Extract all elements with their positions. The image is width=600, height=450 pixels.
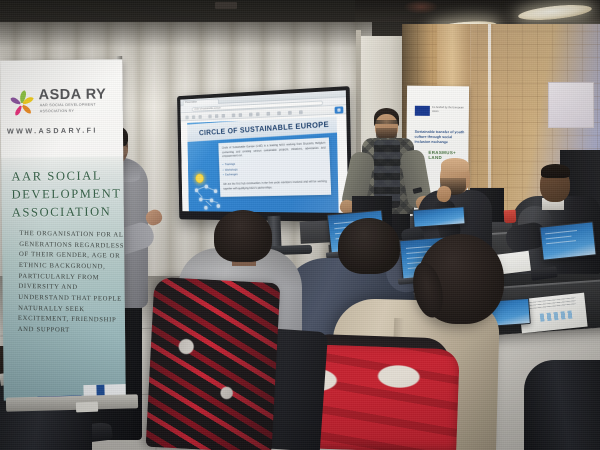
- slide-bullet-list: Trainings Workshops Exchanges: [222, 158, 326, 179]
- toolbar-icon[interactable]: [192, 115, 195, 119]
- banner-body-text: THE ORGANISATION FOR ALL GENERATIONS REG…: [18, 229, 126, 338]
- toolbar-icon[interactable]: [185, 115, 188, 119]
- slide-paragraph: Circle of Sustainable Europe (CSE) is a …: [222, 141, 326, 159]
- jacket-shading: [146, 277, 281, 450]
- participant-hair: [541, 164, 570, 178]
- sun-icon: [195, 174, 203, 183]
- wall-mounted-monitor[interactable]: Presentation circle-of-sustainable-europ…: [177, 86, 352, 222]
- banner-right-eu-note: Co-funded by the European Union: [432, 106, 466, 114]
- toolbar-icon[interactable]: [266, 111, 270, 115]
- laptop-screen: [414, 208, 464, 227]
- toolbar-icon[interactable]: [288, 110, 292, 114]
- toolbar-icon[interactable]: [277, 111, 281, 115]
- banner-website-url: WWW.ASDARY.FI: [7, 125, 123, 135]
- foreground-person-right: [524, 360, 600, 450]
- sun-network-graphic: [193, 172, 224, 213]
- laptop-right[interactable]: [539, 221, 596, 260]
- slide-paragraph-2: We are the first hub communities in the …: [223, 179, 327, 191]
- laptop-screen: [541, 223, 595, 259]
- toolbar-icon[interactable]: [215, 114, 218, 118]
- photo-scene: Co-funded by the European Union Sustaina…: [0, 0, 600, 450]
- roll-up-banner-left: ASDA RY AAR SOCIAL DEVELOPMENT ASSOCIATI…: [0, 59, 126, 400]
- toolbar-icon[interactable]: [256, 112, 260, 116]
- participant-hair: [214, 210, 272, 262]
- eu-flag-icon: [415, 106, 430, 116]
- curtain-top-shadow: [0, 22, 372, 48]
- ceiling-vent: [215, 2, 237, 9]
- toolbar-icon[interactable]: [232, 113, 235, 117]
- banner-brand-name: ASDA RY: [39, 87, 123, 102]
- ceiling-stain: [404, 0, 438, 14]
- asda-butterfly-logo: [7, 88, 37, 118]
- network-link: [196, 190, 202, 197]
- banner-heading: AAR SOCIAL DEVELOPMENT ASSOCIATION: [11, 167, 124, 221]
- glasses-icon: [375, 120, 398, 124]
- network-node-icon: [204, 206, 207, 209]
- toolbar-icon[interactable]: [249, 112, 253, 116]
- network-link: [206, 187, 215, 191]
- participant-hair: [338, 218, 400, 274]
- red-cup[interactable]: [504, 210, 517, 224]
- banner-right-title: Sustainable transfer of youth culture th…: [414, 130, 464, 146]
- toolbar-icon[interactable]: [222, 114, 225, 118]
- network-node-icon: [217, 204, 220, 207]
- toolbar-icon[interactable]: [299, 110, 303, 114]
- toolbar-icon[interactable]: [198, 115, 201, 119]
- banner-foot-tab: [76, 402, 98, 413]
- monitor-screen[interactable]: Presentation circle-of-sustainable-europ…: [180, 90, 348, 213]
- laptop-far[interactable]: [412, 206, 465, 228]
- toolbar-icon[interactable]: [239, 113, 243, 117]
- grid-icon: [337, 108, 341, 112]
- presentation-slide: CIRCLE OF SUSTAINABLE EUROPE Circle of S…: [187, 117, 339, 213]
- slide-text-box: Circle of Sustainable Europe (CSE) is a …: [218, 137, 331, 197]
- toolbar-icon[interactable]: [208, 114, 211, 118]
- participant-scalp: [441, 158, 469, 172]
